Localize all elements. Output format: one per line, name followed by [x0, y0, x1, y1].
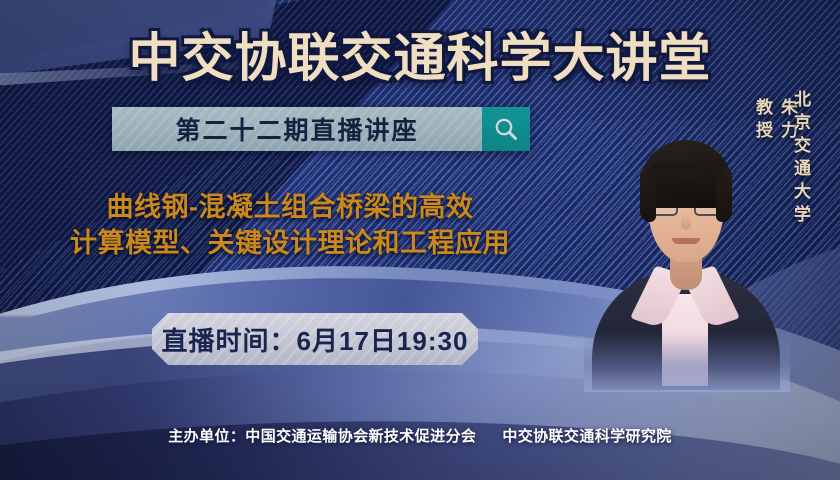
- episode-band: 第二十二期直播讲座: [112, 107, 530, 151]
- page-title: 中交协联交通科学大讲堂: [0, 16, 840, 91]
- organizer-name-2: 中交协联交通科学研究院: [502, 428, 671, 445]
- portrait-hair-fringe: [646, 162, 726, 184]
- organizer-name-1: 中国交通运输协会新技术促进分会: [245, 428, 476, 445]
- organizer-label: 主办单位：: [168, 428, 245, 445]
- episode-label: 第二十二期直播讲座: [112, 107, 482, 151]
- search-icon[interactable]: [482, 107, 530, 151]
- organizer-footer: 主办单位：中国交通运输协会新技术促进分会中交协联交通科学研究院: [0, 425, 840, 446]
- broadcast-time-badge: 直播时间：6月17日19:30: [152, 313, 478, 365]
- lecture-topic-line1: 曲线钢-混凝土组合桥梁的高效: [107, 192, 474, 222]
- lecture-poster: 中交协联交通科学大讲堂 第二十二期直播讲座 曲线钢-混凝土组合桥梁的高效 计算模…: [0, 0, 840, 480]
- speaker-title: 教授: [753, 98, 772, 144]
- lecture-topic-line2: 计算模型、关键设计理论和工程应用: [0, 226, 580, 262]
- speaker-affiliation: 北京交通大学: [788, 90, 813, 228]
- portrait-bottom-fade: [584, 332, 790, 392]
- speaker-portrait: [598, 118, 770, 386]
- portrait-mouth: [672, 238, 700, 244]
- broadcast-time-text: 直播时间：6月17日19:30: [162, 321, 469, 358]
- lecture-topic: 曲线钢-混凝土组合桥梁的高效 计算模型、关键设计理论和工程应用: [0, 190, 580, 261]
